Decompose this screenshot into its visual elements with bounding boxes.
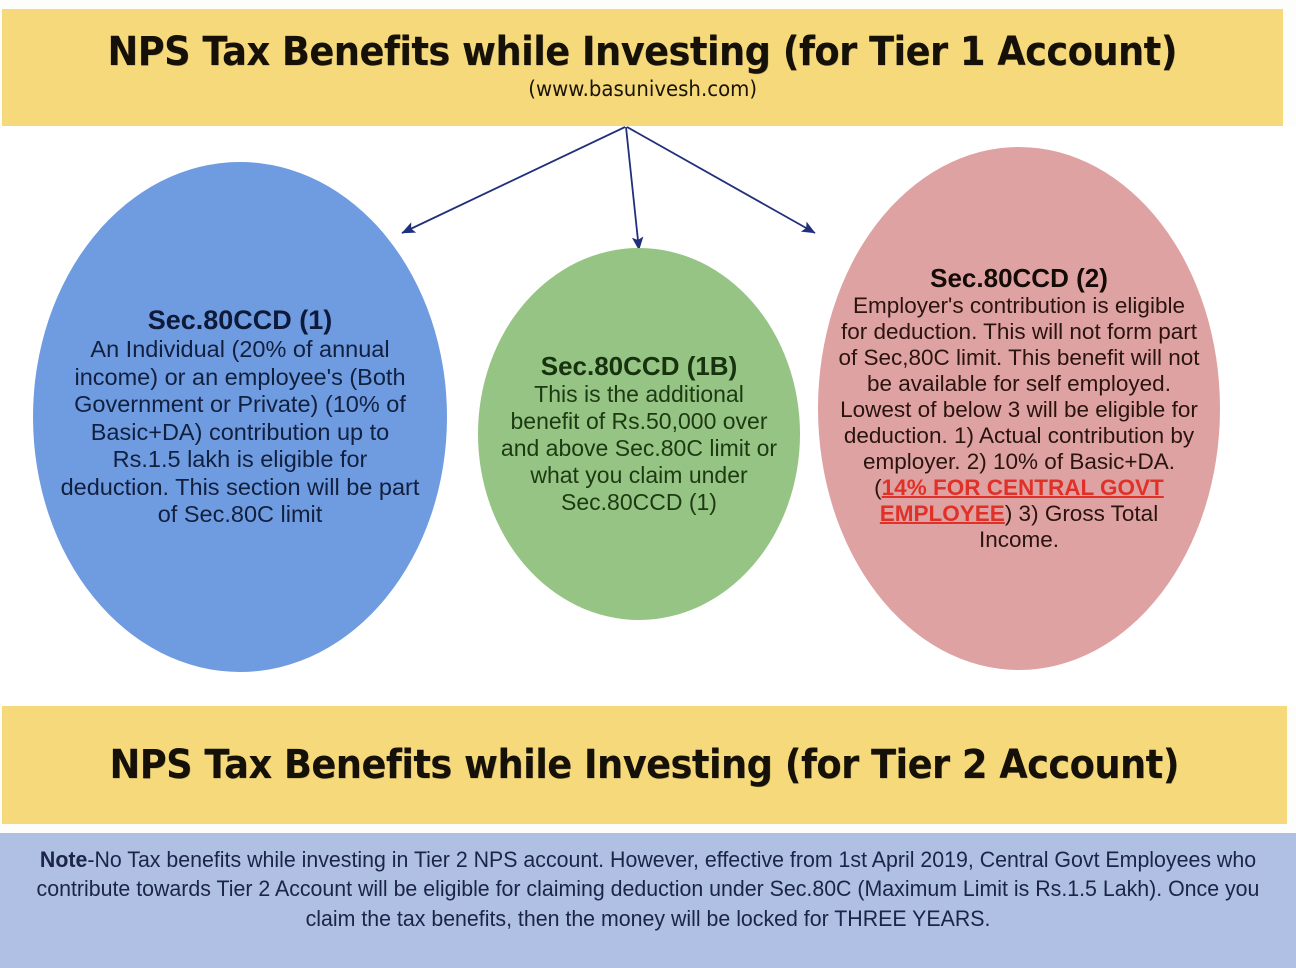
note-label: Note (40, 847, 87, 872)
node-sec-80ccd-1[interactable]: Sec.80CCD (1) An Individual (20% of annu… (33, 162, 447, 672)
page-title: NPS Tax Benefits while Investing (for Ti… (108, 31, 1177, 73)
header-banner-tier2: NPS Tax Benefits while Investing (for Ti… (2, 706, 1287, 824)
node-sec-80ccd-1-body: An Individual (20% of annual income) or … (58, 336, 422, 528)
tier2-title: NPS Tax Benefits while Investing (for Ti… (110, 744, 1179, 786)
node-sec-80ccd-1-content: Sec.80CCD (1) An Individual (20% of annu… (56, 305, 424, 529)
node-sec-80ccd-1-heading: Sec.80CCD (1) (58, 305, 422, 335)
note-panel: Note-No Tax benefits while investing in … (0, 833, 1296, 968)
node-sec-80ccd-2-body-after: ) 3) Gross Total Income. (979, 501, 1158, 552)
node-sec-80ccd-1b-heading: Sec.80CCD (1B) (501, 352, 778, 381)
note-body: -No Tax benefits while investing in Tier… (37, 847, 1260, 931)
note-text: Note-No Tax benefits while investing in … (33, 845, 1263, 933)
header-banner-tier1: NPS Tax Benefits while Investing (for Ti… (2, 9, 1283, 126)
site-url-label: (www.basunivesh.com) (528, 77, 757, 101)
node-sec-80ccd-1b-content: Sec.80CCD (1B) This is the additional be… (499, 352, 780, 516)
node-sec-80ccd-2-heading: Sec.80CCD (2) (838, 264, 1200, 293)
node-sec-80ccd-2-content: Sec.80CCD (2) Employer's contribution is… (836, 264, 1202, 553)
node-sec-80ccd-1b-body: This is the additional benefit of Rs.50,… (501, 381, 778, 516)
node-sec-80ccd-2[interactable]: Sec.80CCD (2) Employer's contribution is… (818, 147, 1220, 670)
node-sec-80ccd-2-body-before: Employer's contribution is eligible for … (838, 293, 1199, 500)
node-sec-80ccd-2-body: Employer's contribution is eligible for … (838, 293, 1200, 553)
node-sec-80ccd-1b[interactable]: Sec.80CCD (1B) This is the additional be… (478, 248, 800, 620)
